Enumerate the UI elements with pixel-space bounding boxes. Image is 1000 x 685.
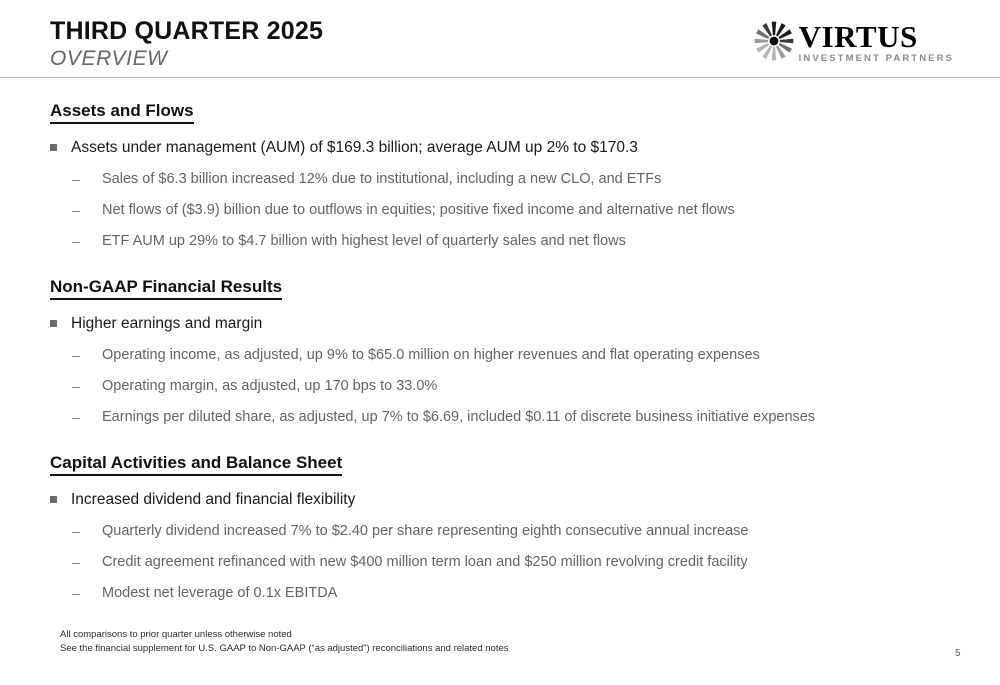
section-heading: Non-GAAP Financial Results [50, 277, 282, 300]
bullet-level2-text: Operating margin, as adjusted, up 170 bp… [102, 376, 437, 396]
dash-bullet-icon: – [72, 231, 83, 251]
bullet-level2: – Earnings per diluted share, as adjuste… [72, 407, 1000, 427]
bullet-level2-text: ETF AUM up 29% to $4.7 billion with high… [102, 231, 626, 251]
bullet-level2: – Quarterly dividend increased 7% to $2.… [72, 521, 1000, 541]
bullet-level1-text: Assets under management (AUM) of $169.3 … [71, 137, 638, 158]
bullet-level2-text: Net flows of ($3.9) billion due to outfl… [102, 200, 735, 220]
page-number: 5 [955, 648, 961, 659]
logo-text-block: VIRTUS INVESTMENT PARTNERS [799, 20, 954, 65]
bullet-level2-text: Credit agreement refinanced with new $40… [102, 552, 748, 572]
slide-header: THIRD QUARTER 2025 OVERVIEW [0, 0, 1000, 78]
page-title: THIRD QUARTER 2025 [50, 16, 323, 46]
bullet-level2: – Modest net leverage of 0.1x EBITDA [72, 583, 1000, 603]
section-non-gaap-financial-results: Non-GAAP Financial Results Higher earnin… [0, 277, 1000, 427]
dash-bullet-icon: – [72, 169, 83, 189]
dash-bullet-icon: – [72, 521, 83, 541]
bullet-level2: – Credit agreement refinanced with new $… [72, 552, 1000, 572]
bullet-level1: Increased dividend and financial flexibi… [50, 489, 1000, 510]
bullet-level2-text: Earnings per diluted share, as adjusted,… [102, 407, 815, 427]
spacer [0, 427, 1000, 453]
footnotes: All comparisons to prior quarter unless … [60, 628, 509, 655]
section-capital-activities-and-balance-sheet: Capital Activities and Balance Sheet Inc… [0, 453, 1000, 603]
bullet-level2-text: Sales of $6.3 billion increased 12% due … [102, 169, 661, 189]
dash-bullet-icon: – [72, 552, 83, 572]
bullet-level2-text: Operating income, as adjusted, up 9% to … [102, 345, 760, 365]
section-heading: Assets and Flows [50, 101, 194, 124]
footnote-line: See the financial supplement for U.S. GA… [60, 642, 509, 656]
spacer [0, 251, 1000, 277]
bullet-level1: Higher earnings and margin [50, 313, 1000, 334]
dash-bullet-icon: – [72, 345, 83, 365]
slide-body: Assets and Flows Assets under management… [0, 78, 1000, 603]
title-block: THIRD QUARTER 2025 OVERVIEW [50, 16, 323, 72]
page-subtitle: OVERVIEW [50, 46, 323, 72]
bullet-level2: – Operating income, as adjusted, up 9% t… [72, 345, 1000, 365]
bullet-level2-text: Modest net leverage of 0.1x EBITDA [102, 583, 337, 603]
logo-tagline: INVESTMENT PARTNERS [799, 53, 954, 65]
bullet-level1: Assets under management (AUM) of $169.3 … [50, 137, 1000, 158]
dash-bullet-icon: – [72, 407, 83, 427]
section-heading: Capital Activities and Balance Sheet [50, 453, 342, 476]
bullet-level1-text: Higher earnings and margin [71, 313, 262, 334]
bullet-level2: – Net flows of ($3.9) billion due to out… [72, 200, 1000, 220]
logo-wordmark: VIRTUS [799, 21, 954, 52]
dash-bullet-icon: – [72, 583, 83, 603]
bullet-level2: – ETF AUM up 29% to $4.7 billion with hi… [72, 231, 1000, 251]
square-bullet-icon [50, 144, 57, 151]
dash-bullet-icon: – [72, 200, 83, 220]
bullet-level2-text: Quarterly dividend increased 7% to $2.40… [102, 521, 748, 541]
slide: THIRD QUARTER 2025 OVERVIEW [0, 0, 1000, 685]
square-bullet-icon [50, 320, 57, 327]
dash-bullet-icon: – [72, 376, 83, 396]
footnote-line: All comparisons to prior quarter unless … [60, 628, 509, 642]
virtus-logo: VIRTUS INVESTMENT PARTNERS [752, 20, 954, 66]
bullet-level2: – Operating margin, as adjusted, up 170 … [72, 376, 1000, 396]
bullet-level1-text: Increased dividend and financial flexibi… [71, 489, 355, 510]
square-bullet-icon [50, 496, 57, 503]
spacer [0, 78, 1000, 101]
section-assets-and-flows: Assets and Flows Assets under management… [0, 101, 1000, 251]
bullet-level2: – Sales of $6.3 billion increased 12% du… [72, 169, 1000, 189]
starburst-icon [752, 20, 796, 62]
